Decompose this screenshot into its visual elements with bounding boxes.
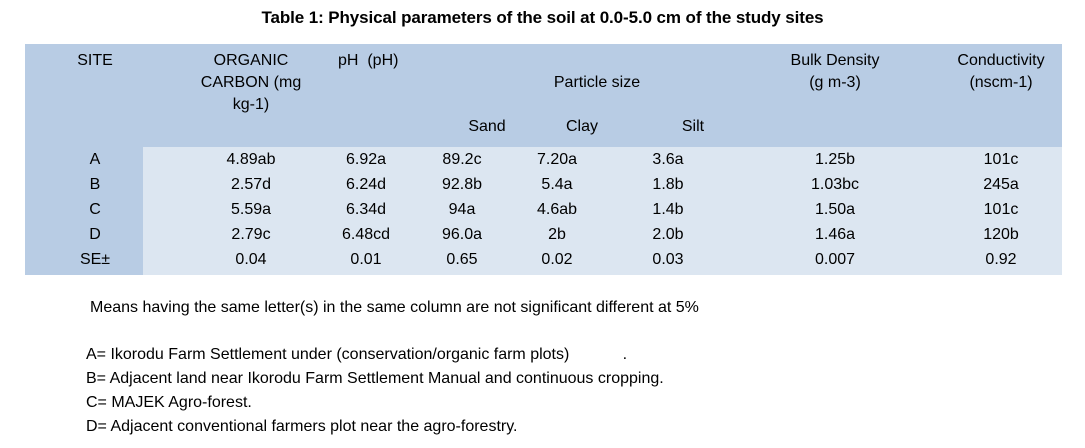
column-header-ph: pH (pH) <box>338 50 498 72</box>
column-header-particle-size: Particle size <box>507 72 687 94</box>
page-title: Table 1: Physical parameters of the soil… <box>0 8 1085 28</box>
footnote-significance: Means having the same letter(s) in the s… <box>90 297 699 319</box>
table-row: SE± 0.04 0.01 0.65 0.02 0.03 0.007 0.92 <box>25 248 1062 273</box>
cell-clay: 2b <box>503 224 611 246</box>
cell-silt: 0.03 <box>614 249 722 271</box>
cell-clay: 4.6ab <box>503 199 611 221</box>
column-header-clay: Clay <box>528 116 636 138</box>
cell-sand: 0.65 <box>408 249 516 271</box>
cell-site: D <box>47 224 143 246</box>
cell-sand: 96.0a <box>408 224 516 246</box>
soil-parameters-table: SITE ORGANIC CARBON (mg kg-1) pH (pH) Pa… <box>25 44 1062 275</box>
column-header-organic-carbon: ORGANIC CARBON (mg kg-1) <box>165 50 337 116</box>
column-header-conductivity: Conductivity (nscm-1) <box>903 50 1085 94</box>
table-row: A 4.89ab 6.92a 89.2c 7.20a 3.6a 1.25b 10… <box>25 148 1062 173</box>
cell-silt: 3.6a <box>614 149 722 171</box>
footnote-site-c: C= MAJEK Agro-forest. <box>86 392 252 414</box>
footnote-site-b: B= Adjacent land near Ikorodu Farm Settl… <box>86 368 664 390</box>
cell-silt: 1.8b <box>614 174 722 196</box>
cell-silt: 2.0b <box>614 224 722 246</box>
cell-sand: 92.8b <box>408 174 516 196</box>
cell-conductivity: 101c <box>903 199 1085 221</box>
cell-site: SE± <box>47 249 143 271</box>
column-header-sand: Sand <box>433 116 541 138</box>
cell-site: C <box>47 199 143 221</box>
table-row: C 5.59a 6.34d 94a 4.6ab 1.4b 1.50a 101c <box>25 198 1062 223</box>
cell-conductivity: 101c <box>903 149 1085 171</box>
cell-silt: 1.4b <box>614 199 722 221</box>
footnote-site-a: A= Ikorodu Farm Settlement under (conser… <box>86 344 627 366</box>
cell-sand: 94a <box>408 199 516 221</box>
cell-clay: 7.20a <box>503 149 611 171</box>
table-row: B 2.57d 6.24d 92.8b 5.4a 1.8b 1.03bc 245… <box>25 173 1062 198</box>
cell-site: B <box>47 174 143 196</box>
cell-clay: 5.4a <box>503 174 611 196</box>
table-row: D 2.79c 6.48cd 96.0a 2b 2.0b 1.46a 120b <box>25 223 1062 248</box>
cell-sand: 89.2c <box>408 149 516 171</box>
cell-conductivity: 0.92 <box>903 249 1085 271</box>
column-header-site: SITE <box>47 50 143 72</box>
cell-site: A <box>47 149 143 171</box>
column-header-silt: Silt <box>639 116 747 138</box>
cell-conductivity: 245a <box>903 174 1085 196</box>
footnote-site-d: D= Adjacent conventional farmers plot ne… <box>86 416 517 438</box>
cell-conductivity: 120b <box>903 224 1085 246</box>
cell-clay: 0.02 <box>503 249 611 271</box>
